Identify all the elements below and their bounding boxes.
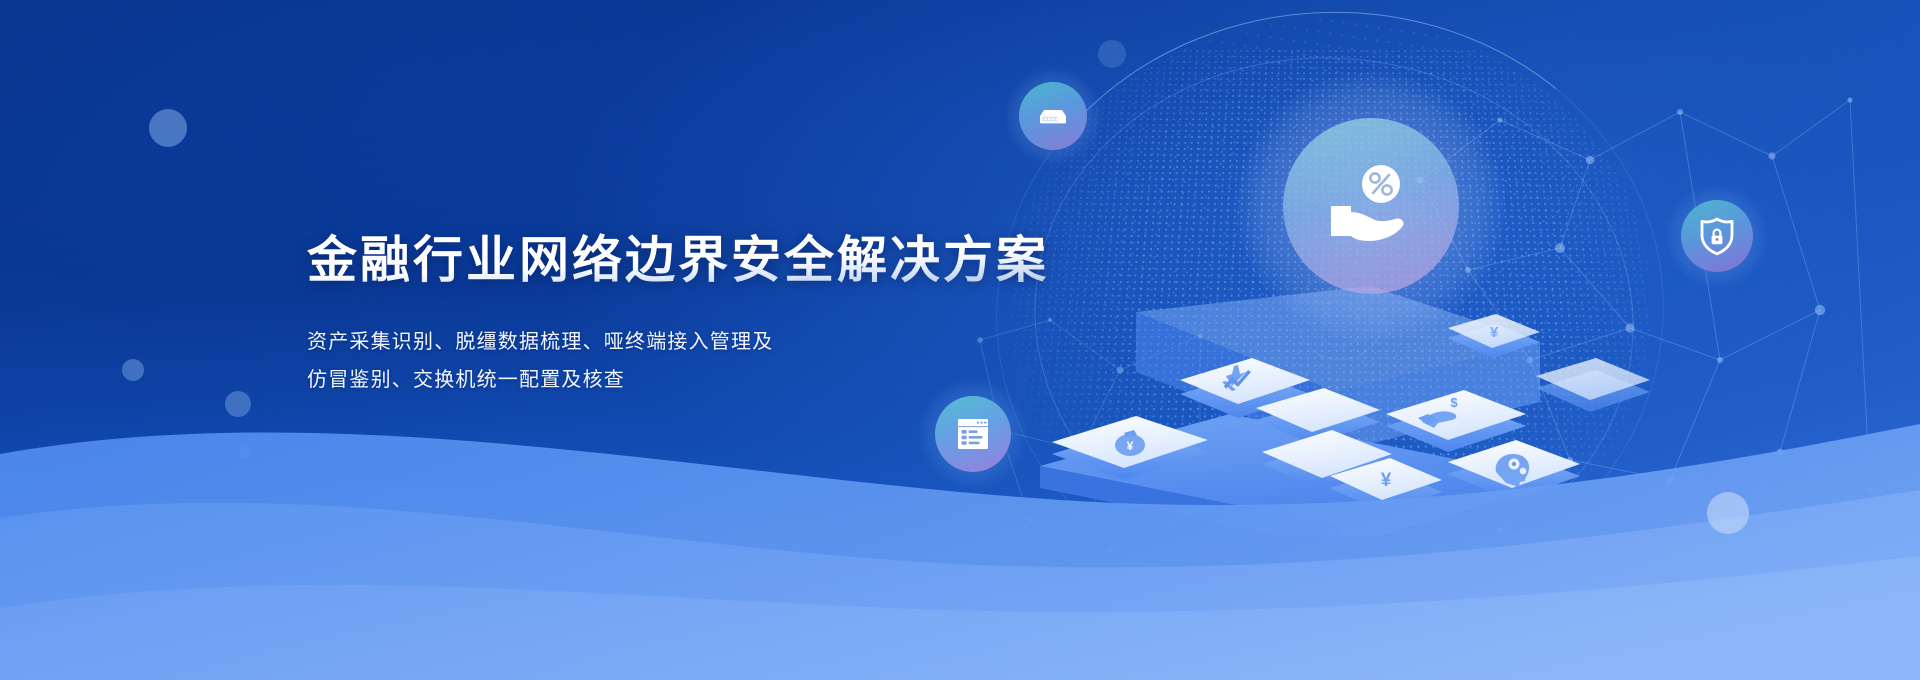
tile-hand-dollar: $ xyxy=(1386,390,1526,452)
deco-circle-4 xyxy=(1098,40,1126,68)
tile-blank-3 xyxy=(1536,358,1650,412)
page-subtitle: 资产采集识别、脱缰数据梳理、哑终端接入管理及 仿冒鉴别、交换机统一配置及核查 xyxy=(307,323,1047,400)
tile-blank-2 xyxy=(1262,430,1392,490)
platform-tiles: ¥ ¥ ¥ xyxy=(1052,314,1650,512)
orb-finance-percent xyxy=(1283,118,1459,294)
svg-text:¥: ¥ xyxy=(1127,439,1134,453)
tile-blank-1 xyxy=(1256,388,1380,444)
hand-percent-icon xyxy=(1319,156,1423,256)
document-list-icon xyxy=(953,414,993,454)
network-switch-icon xyxy=(1036,99,1070,133)
orb-document-list xyxy=(935,396,1011,472)
page-title: 金融行业网络边界安全解决方案 xyxy=(307,232,1047,289)
tile-ai-head xyxy=(1448,440,1580,500)
shield-lock-icon xyxy=(1698,216,1736,256)
svg-text:¥: ¥ xyxy=(1381,470,1392,491)
wave-layer-2 xyxy=(0,490,1920,680)
svg-text:$: $ xyxy=(1450,395,1458,410)
hero-text-block: 金融行业网络边界安全解决方案 资产采集识别、脱缰数据梳理、哑终端接入管理及 仿冒… xyxy=(307,232,1047,400)
deco-circle-2 xyxy=(122,359,144,381)
orb-shield-lock xyxy=(1681,200,1753,272)
tile-yuan-top: ¥ xyxy=(1448,314,1540,358)
deco-circle-1 xyxy=(149,109,187,147)
tile-yuan-mid: ¥ xyxy=(1330,458,1442,512)
platform-base xyxy=(1040,414,1520,536)
deco-circle-5 xyxy=(1707,492,1749,534)
svg-text:¥: ¥ xyxy=(1490,324,1499,341)
hero-banner: ¥ ¥ ¥ xyxy=(0,0,1920,680)
wave-layer-3 xyxy=(0,556,1920,680)
deco-circle-3 xyxy=(225,391,251,417)
deco-circle-6 xyxy=(239,446,251,458)
orb-network-switch xyxy=(1019,82,1087,150)
tile-growth-chart xyxy=(1180,358,1310,418)
tile-money-bag: ¥ xyxy=(1052,416,1208,480)
